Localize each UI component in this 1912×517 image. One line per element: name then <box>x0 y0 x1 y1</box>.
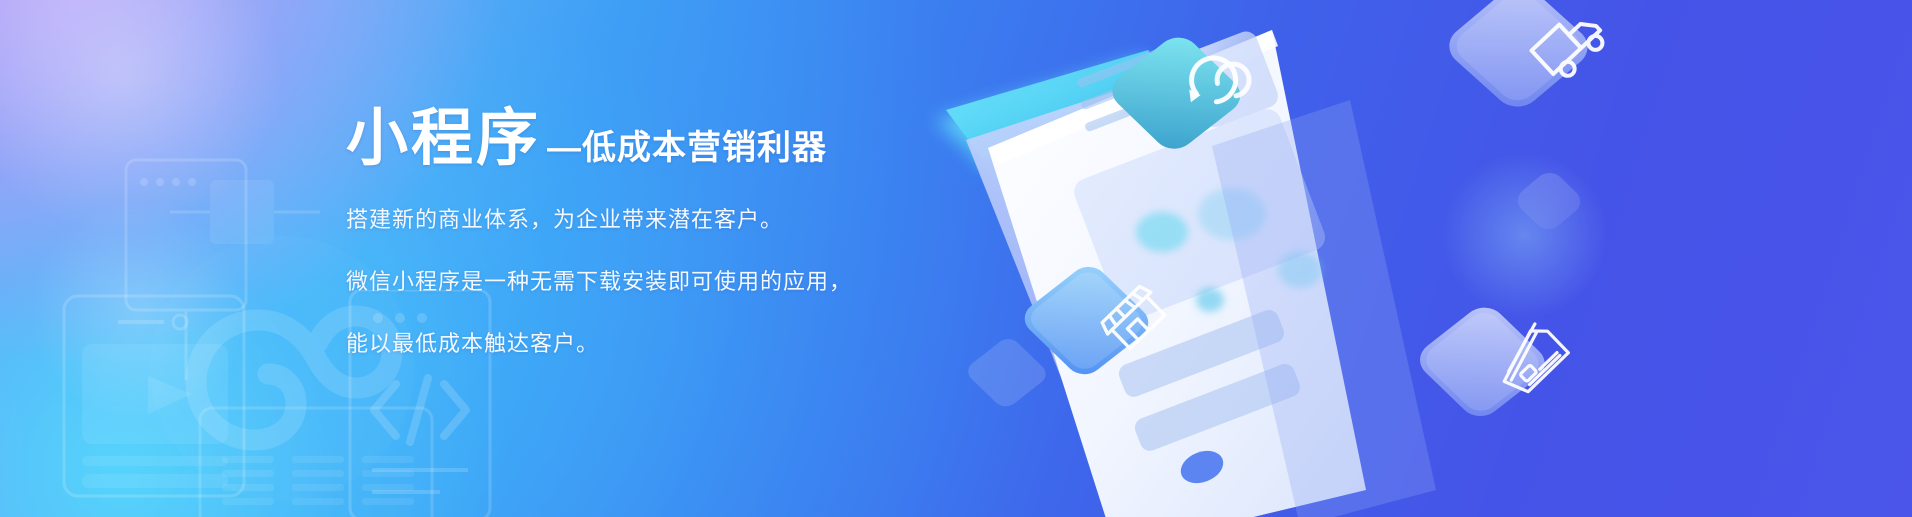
body-line-1: 搭建新的商业体系，为企业带来潜在客户。 <box>346 200 966 240</box>
banner-copy: 小程序 —低成本营销利器 搭建新的商业体系，为企业带来潜在客户。 微信小程序是一… <box>346 108 966 386</box>
headline-sub-text: —低成本营销利器 <box>547 131 827 170</box>
isometric-phone-illustration <box>880 0 1912 517</box>
credit-card-icon-card <box>1411 300 1553 424</box>
body-line-2: 微信小程序是一种无需下载安装即可使用的应用， <box>346 262 966 302</box>
body-line-3: 能以最低成本触达客户。 <box>346 324 966 364</box>
page-title: 小程序 —低成本营销利器 <box>346 108 966 170</box>
headline-main-text: 小程序 <box>346 108 541 170</box>
promo-banner: 小程序 —低成本营销利器 搭建新的商业体系，为企业带来潜在客户。 微信小程序是一… <box>0 0 1912 517</box>
list-card-icon <box>196 404 436 517</box>
